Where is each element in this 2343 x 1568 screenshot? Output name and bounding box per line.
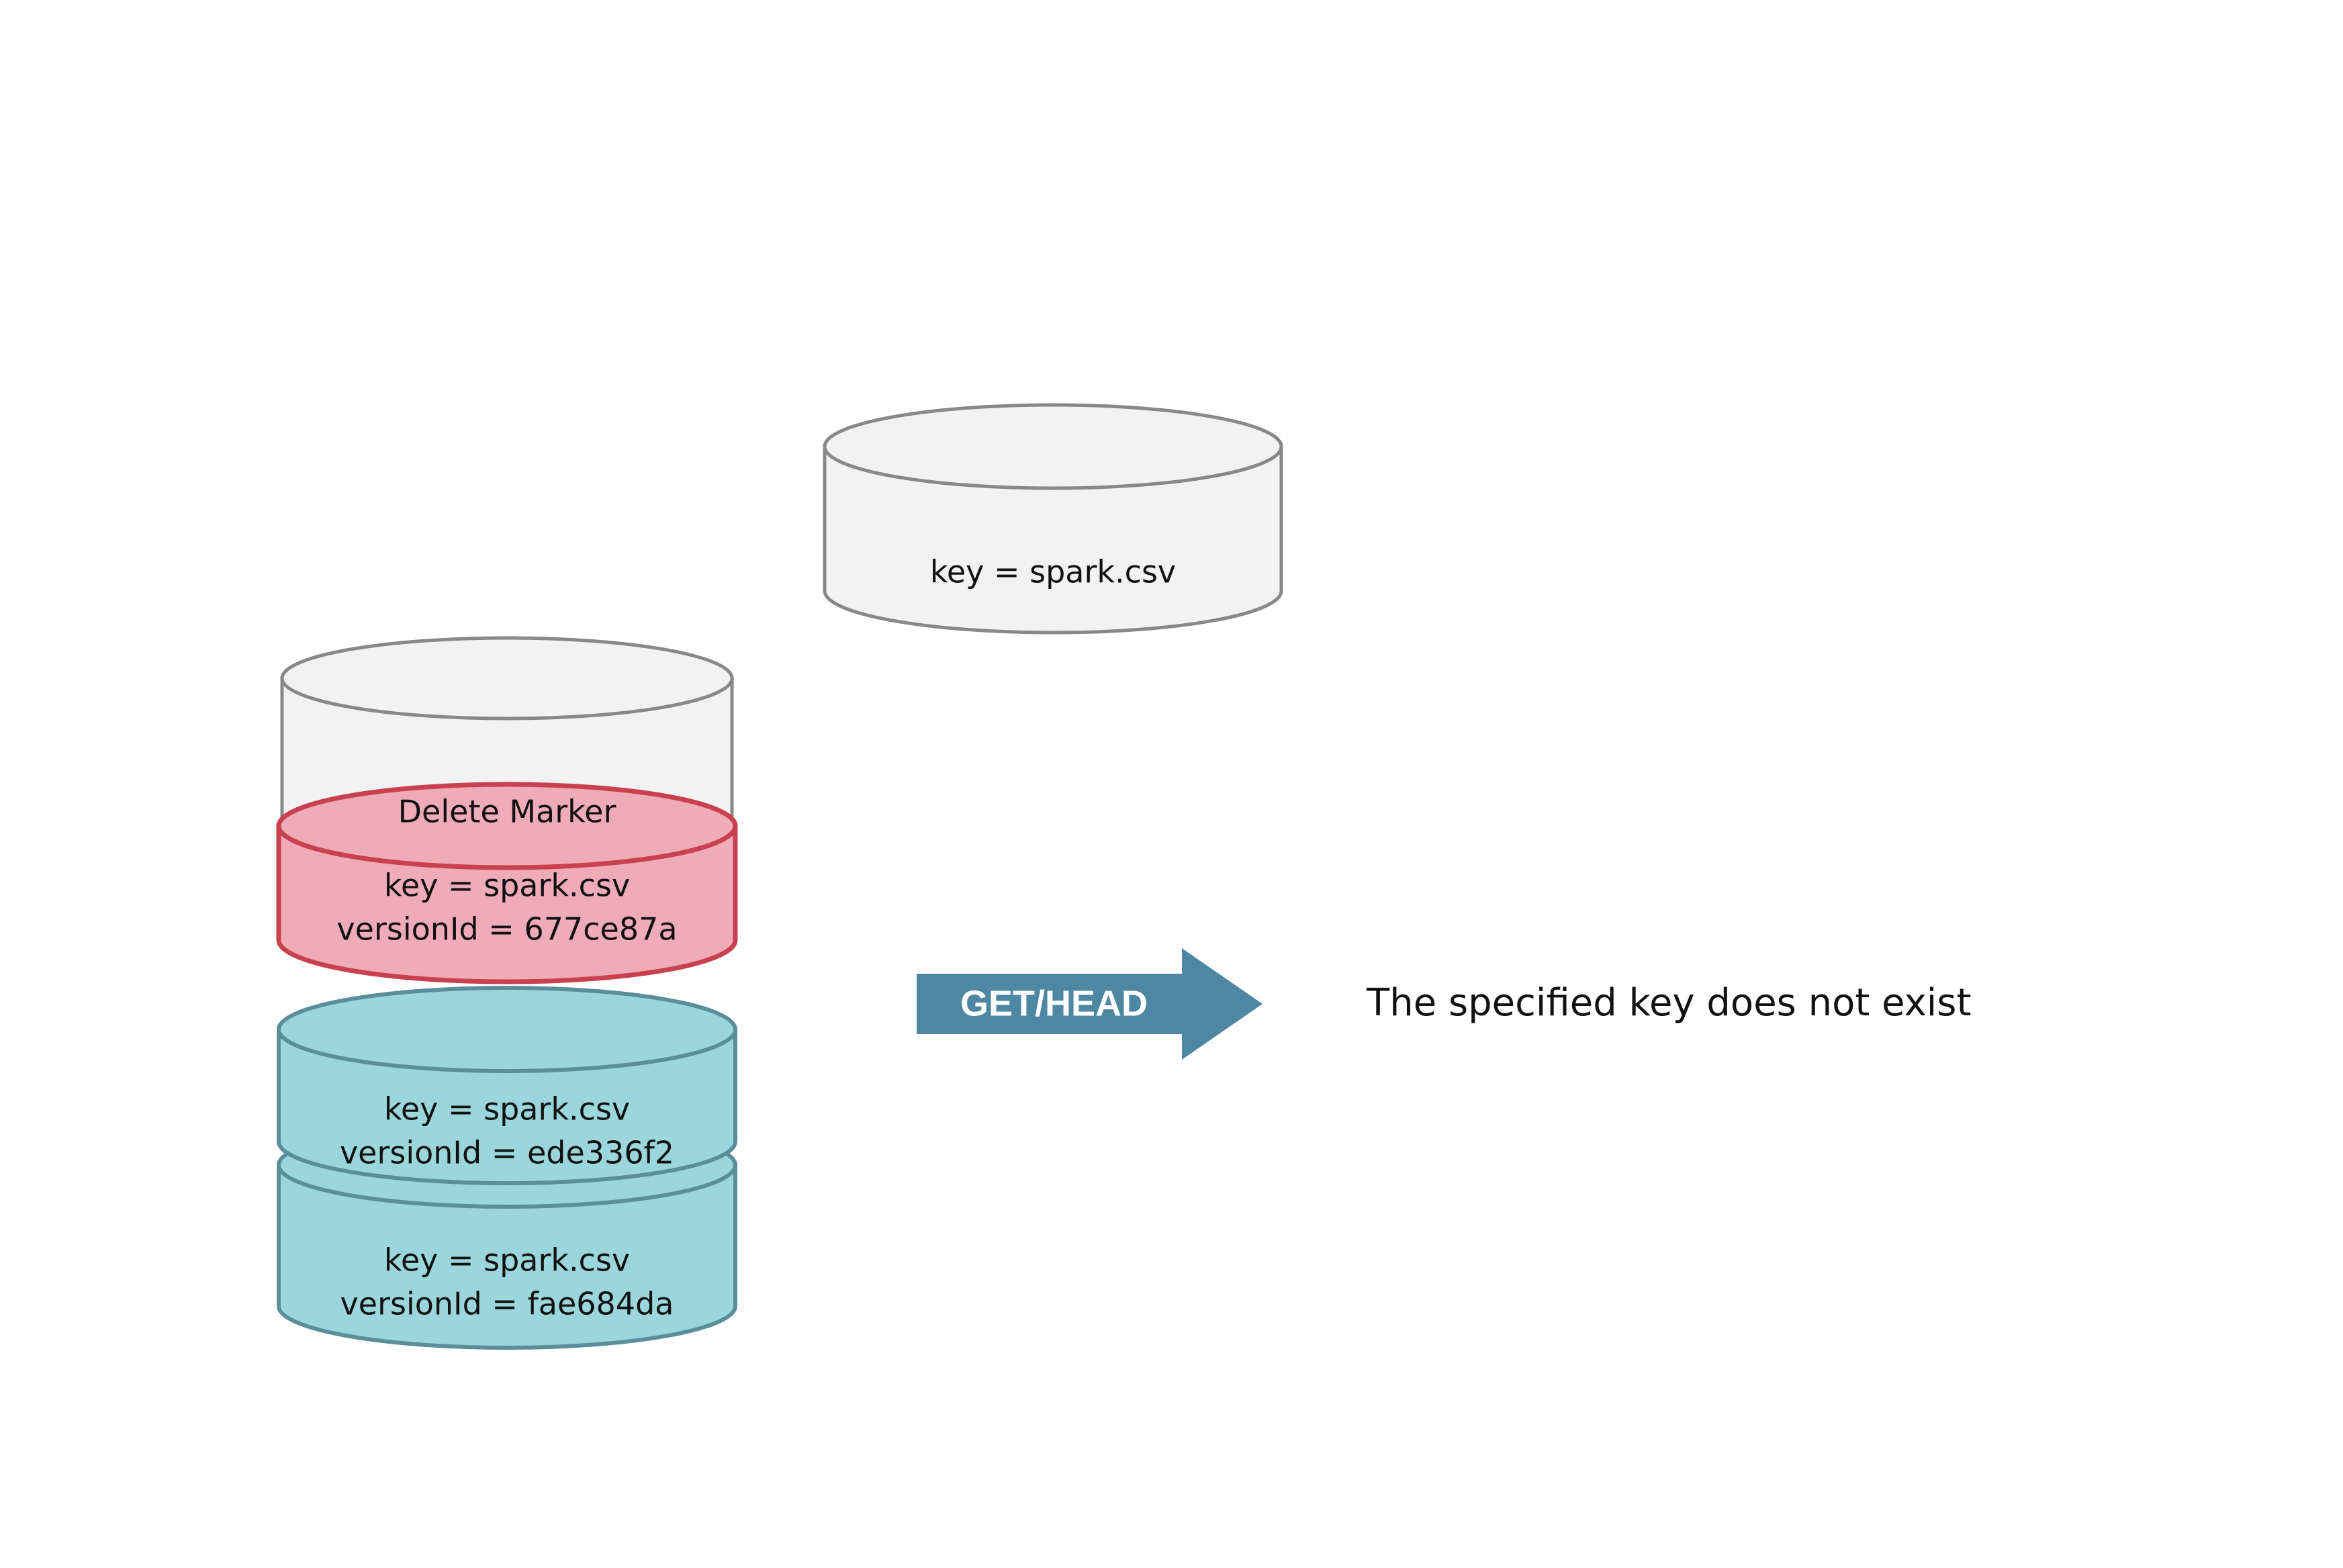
diagram-canvas: key = spark.csv key = spark.csv versionI… — [0, 0, 2343, 1568]
version-layer-ede336f2-top — [279, 988, 735, 1071]
current-object-cylinder: key = spark.csv — [825, 405, 1281, 633]
version-stack: key = spark.csv versionId = fae684da key… — [279, 638, 735, 1348]
s3-versioning-diagram: key = spark.csv key = spark.csv versionI… — [0, 0, 2343, 1568]
version-layer-delete-marker-key-label: key = spark.csv — [384, 868, 630, 904]
get-head-request-arrow[interactable]: GET/HEAD — [917, 948, 1262, 1060]
version-layer-ede336f2: key = spark.csv versionId = ede336f2 — [279, 988, 735, 1183]
version-layer-ede336f2-key-label: key = spark.csv — [384, 1091, 630, 1127]
current-object-key-label: key = spark.csv — [930, 554, 1176, 590]
delete-marker-title: Delete Marker — [398, 794, 616, 830]
version-layer-fae684da-key-label: key = spark.csv — [384, 1242, 630, 1279]
get-head-arrow-label: GET/HEAD — [960, 983, 1148, 1023]
version-layer-delete-marker-version-label: versionId = 677ce87a — [336, 911, 677, 948]
version-layer-empty-top-top — [282, 638, 732, 719]
version-layer-fae684da-version-label: versionId = fae684da — [340, 1286, 674, 1322]
version-layer-delete-marker: Delete Marker key = spark.csv versionId … — [279, 784, 735, 982]
version-layer-ede336f2-version-label: versionId = ede336f2 — [340, 1135, 674, 1171]
error-response-text: The specified key does not exist — [1366, 981, 1971, 1025]
current-object-cylinder-top — [825, 405, 1281, 488]
